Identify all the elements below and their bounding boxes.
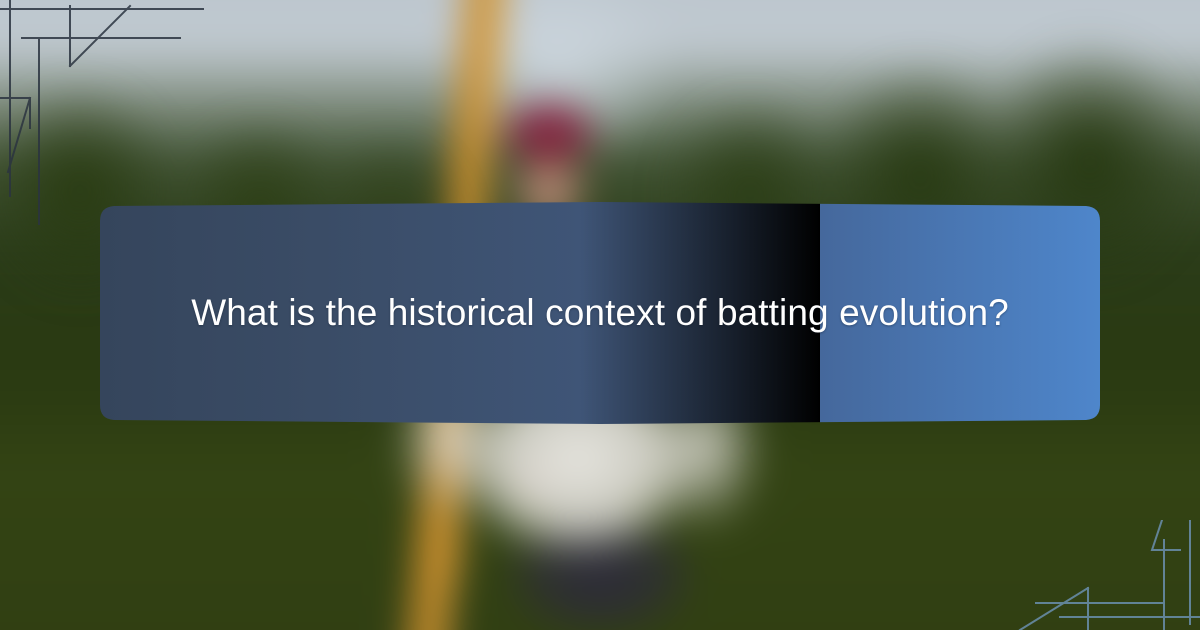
banner-card-canvas: What is the historical context of battin… (0, 0, 1200, 630)
question-banner: What is the historical context of battin… (100, 202, 1100, 424)
question-text: What is the historical context of battin… (100, 202, 1100, 424)
